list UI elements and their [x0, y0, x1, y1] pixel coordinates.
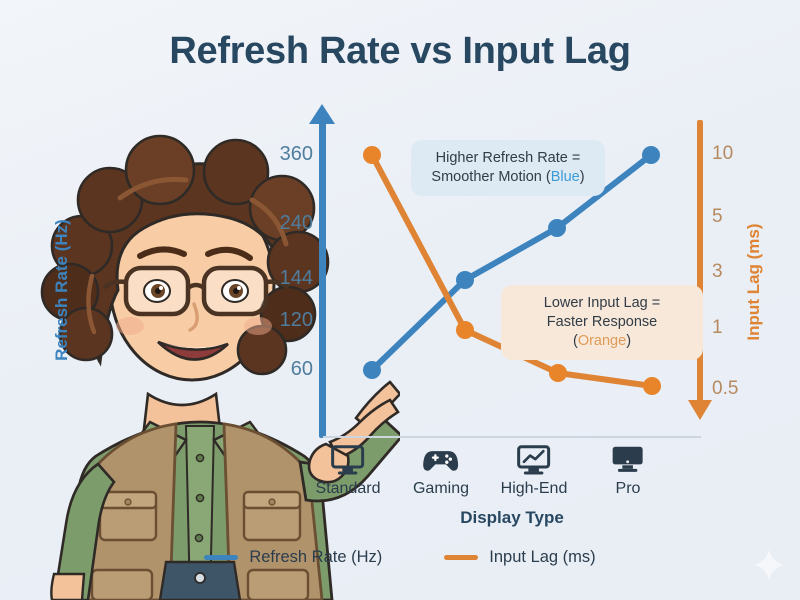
category-axis: Standard Gaming High-End [323, 445, 701, 503]
data-point-lag-standard[interactable] [363, 146, 381, 164]
annotation-refresh-keyword: Blue [551, 169, 580, 185]
category-label-standard: Standard [316, 480, 381, 497]
annotation-refresh-line1: Higher Refresh Rate = [436, 150, 581, 166]
category-label-high-end: High-End [501, 480, 568, 497]
legend-item-input-lag[interactable]: Input Lag (ms) [444, 548, 595, 567]
annotation-lag-line1: Lower Input Lag = [544, 295, 661, 311]
annotation-refresh-line2-prefix: Smoother Motion ( [431, 169, 550, 185]
legend-label-input-lag: Input Lag (ms) [489, 548, 595, 567]
category-label-pro: Pro [616, 480, 641, 497]
category-label-gaming: Gaming [413, 480, 469, 497]
category-gaming[interactable]: Gaming [394, 445, 488, 498]
annotation-lag-keyword: Orange [578, 333, 626, 349]
gamepad-icon [423, 445, 458, 475]
data-point-refresh-pro[interactable] [642, 146, 660, 164]
category-pro[interactable]: Pro [581, 445, 675, 498]
monitor-icon [330, 445, 365, 475]
annotation-lag-line2-suffix: ) [626, 333, 631, 349]
annotation-input-lag: Lower Input Lag = Faster Response (Orang… [501, 285, 703, 360]
annotation-refresh-line2-suffix: ) [580, 169, 585, 185]
legend-swatch-refresh-rate [204, 555, 238, 560]
data-point-refresh-gaming[interactable] [456, 271, 474, 289]
data-point-lag-pro[interactable] [643, 377, 661, 395]
data-point-lag-gaming[interactable] [456, 321, 474, 339]
infographic-canvas: Refresh Rate vs Input Lag [0, 0, 800, 600]
data-point-lag-highend[interactable] [549, 364, 567, 382]
category-standard[interactable]: Standard [301, 445, 395, 498]
chart-legend: Refresh Rate (Hz) Input Lag (ms) [0, 548, 800, 567]
data-point-refresh-highend[interactable] [548, 219, 566, 237]
annotation-refresh-rate: Higher Refresh Rate = Smoother Motion (B… [411, 140, 605, 196]
sparkle-icon [752, 548, 786, 582]
legend-item-refresh-rate[interactable]: Refresh Rate (Hz) [204, 548, 382, 567]
category-high-end[interactable]: High-End [487, 445, 581, 498]
legend-swatch-input-lag [444, 555, 478, 560]
data-point-refresh-standard[interactable] [363, 361, 381, 379]
monitor-chart-icon [516, 445, 551, 475]
monitor-icon [610, 445, 645, 475]
legend-label-refresh-rate: Refresh Rate (Hz) [249, 548, 382, 567]
